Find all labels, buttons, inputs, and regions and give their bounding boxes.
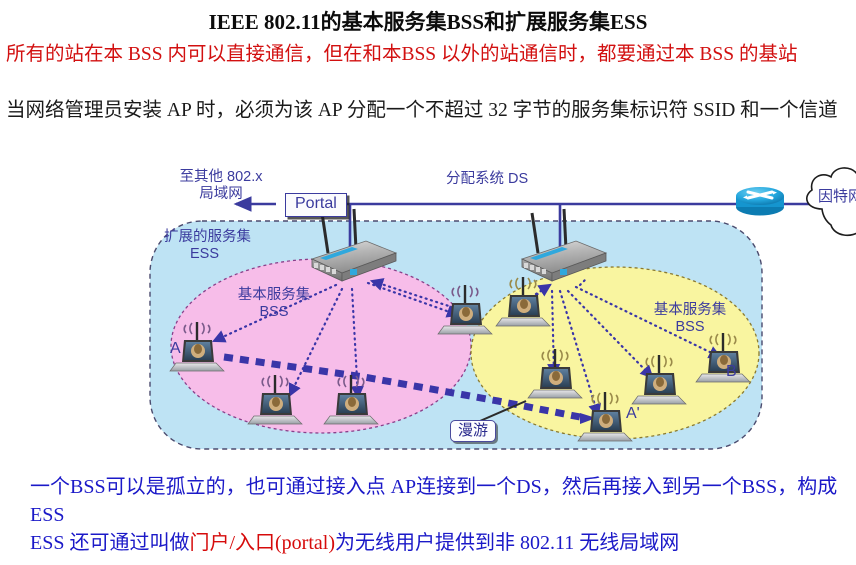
paragraph-mixed-red: 门户/入口(portal): [189, 532, 335, 554]
bss-left-region: [171, 259, 471, 433]
label-to-other-lan: 至其他 802.x 局域网: [166, 169, 276, 202]
paragraph-mixed-post: 为无线用户提供到非 802.11 无线局域网: [335, 532, 679, 554]
label-bss-left-line1: 基本服务集: [238, 287, 311, 303]
paragraph-red: 所有的站在本 BSS 内可以直接通信，但在和本BSS 以外的站通信时，都要通过本…: [6, 41, 844, 69]
roaming-callout: 漫游: [450, 420, 496, 442]
portal-box: Portal: [285, 193, 347, 217]
label-to-other-lan-line1: 至其他 802.x: [180, 169, 263, 185]
router-icon: [736, 187, 784, 216]
label-to-other-lan-line2: 局域网: [199, 186, 243, 202]
label-ess: 扩展的服务集 ESS: [164, 229, 251, 262]
label-distribution-system: 分配系统 DS: [446, 171, 528, 188]
label-ess-line1: 扩展的服务集: [164, 229, 251, 245]
label-bss-right-line2: BSS: [675, 319, 704, 335]
paragraph-black: 当网络管理员安装 AP 时，必须为该 AP 分配一个不超过 32 字节的服务集标…: [6, 97, 848, 125]
label-station-a-prime: A': [626, 405, 640, 423]
page-title: IEEE 802.11的基本服务集BSS和扩展服务集ESS: [0, 6, 856, 36]
label-station-b: B: [726, 363, 737, 381]
label-bss-right-line1: 基本服务集: [654, 302, 727, 318]
slide-root: IEEE 802.11的基本服务集BSS和扩展服务集ESS 所有的站在本 BSS…: [0, 0, 856, 565]
label-bss-left-line2: BSS: [259, 304, 288, 320]
label-bss-left: 基本服务集 BSS: [220, 287, 328, 320]
label-internet: 因特网: [818, 188, 856, 205]
label-ess-line2: ESS: [190, 246, 219, 263]
network-diagram: 至其他 802.x 局域网 分配系统 DS 因特网 扩展的服务集 ESS 基本服…: [128, 163, 856, 463]
paragraph-blue: 一个BSS可以是孤立的，也可通过接入点 AP连接到一个DS，然后再接入到另一个B…: [30, 473, 850, 529]
paragraph-mixed: ESS 还可通过叫做门户/入口(portal)为无线用户提供到非 802.11 …: [30, 529, 856, 557]
paragraph-mixed-pre: ESS 还可通过叫做: [30, 532, 189, 554]
label-station-a: A: [170, 340, 181, 358]
label-bss-right: 基本服务集 BSS: [636, 302, 744, 335]
